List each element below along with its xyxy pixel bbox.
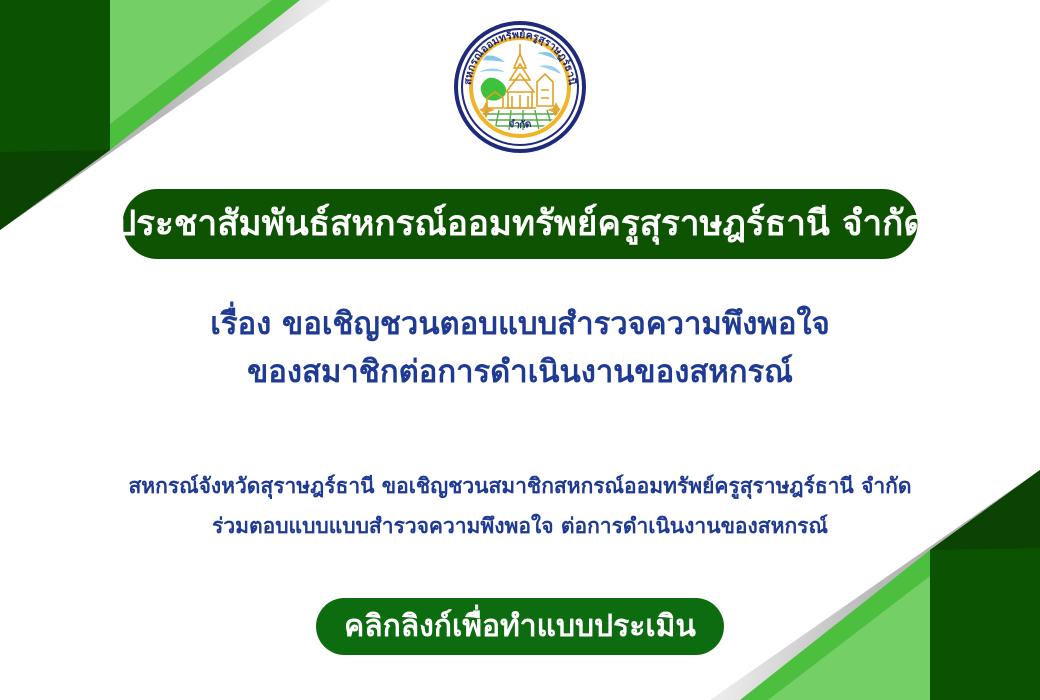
body-line-1: สหกรณ์จังหวัดสุราษฎร์ธานี ขอเชิญชวนสมาชิ… xyxy=(0,467,1040,507)
bottom-right-decoration xyxy=(610,400,1040,700)
subtitle-block: เรื่อง ขอเชิญชวนตอบแบบสำรวจความพึงพอใจ ข… xyxy=(0,300,1040,396)
subtitle-line-1: เรื่อง ขอเชิญชวนตอบแบบสำรวจความพึงพอใจ xyxy=(0,300,1040,348)
title-banner-text: ประชาสัมพันธ์สหกรณ์ออมทรัพย์ครูสุราษฎร์ธ… xyxy=(114,207,926,242)
body-line-2: ร่วมตอบแบบแบบสำรวจความพึงพอใจ ต่อการดำเน… xyxy=(0,507,1040,547)
subtitle-line-2: ของสมาชิกต่อการดำเนินงานของสหกรณ์ xyxy=(0,348,1040,396)
open-survey-link-button[interactable]: คลิกลิงก์เพื่อทำแบบประเมิน xyxy=(316,598,724,655)
bottom-right-dark-green-band xyxy=(610,400,1040,700)
title-banner: ประชาสัมพันธ์สหกรณ์ออมทรัพย์ครูสุราษฎร์ธ… xyxy=(123,189,918,259)
bottom-right-grey-band xyxy=(610,400,1040,700)
bottom-right-darker-green-wedge xyxy=(610,400,1040,700)
open-survey-link-button-label: คลิกลิงก์เพื่อทำแบบประเมิน xyxy=(344,612,696,642)
announcement-poster: สหกรณ์ออมทรัพย์ครูสุราษฎร์ธานี จำกัด ประ… xyxy=(0,0,1040,700)
body-text-block: สหกรณ์จังหวัดสุราษฎร์ธานี ขอเชิญชวนสมาชิ… xyxy=(0,467,1040,547)
bottom-right-light-green-highlight xyxy=(610,400,1040,700)
cooperative-logo-icon: สหกรณ์ออมทรัพย์ครูสุราษฎร์ธานี จำกัด xyxy=(453,20,587,154)
bottom-right-bright-green-band xyxy=(610,400,1040,700)
